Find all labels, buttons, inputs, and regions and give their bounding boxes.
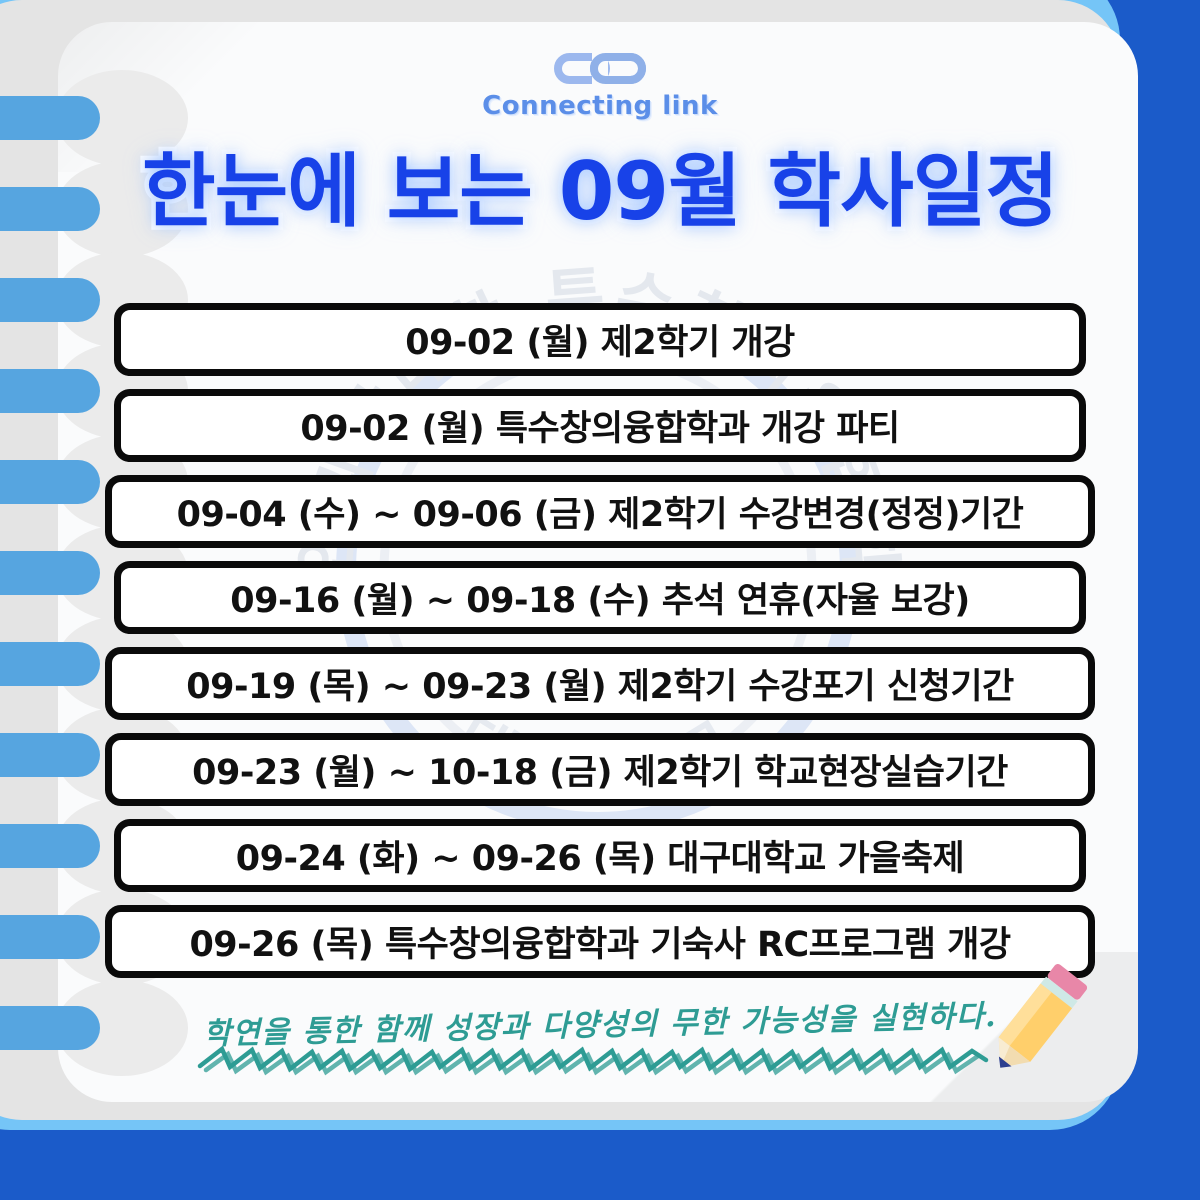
brand-logo: Connecting link: [0, 48, 1200, 121]
schedule-item-label: 09-04 (수) ~ 09-06 (금) 제2학기 수강변경(정정)기간: [177, 486, 1024, 537]
scribble-underline-icon: [196, 1040, 996, 1078]
page-title: 한눈에 보는 09월 학사일정: [142, 150, 1058, 234]
schedule-list: 09-02 (월) 제2학기 개강09-02 (월) 특수창의융합학과 개강 파…: [0, 303, 1200, 991]
schedule-item: 09-26 (목) 특수창의융합학과 기숙사 RC프로그램 개강: [105, 905, 1095, 978]
poster-canvas: 자연과학대학 특수창의융합학과 대구대학교 Connecting link 한눈…: [0, 0, 1200, 1200]
schedule-item: 09-04 (수) ~ 09-06 (금) 제2학기 수강변경(정정)기간: [105, 475, 1095, 548]
schedule-item: 09-02 (월) 특수창의융합학과 개강 파티: [114, 389, 1086, 462]
schedule-item: 09-02 (월) 제2학기 개강: [114, 303, 1086, 376]
pencil-icon: [978, 958, 1094, 1086]
schedule-item-label: 09-19 (목) ~ 09-23 (월) 제2학기 수강포기 신청기간: [186, 658, 1013, 709]
schedule-item-label: 09-23 (월) ~ 10-18 (금) 제2학기 학교현장실습기간: [192, 744, 1008, 795]
brand-name: Connecting link: [0, 91, 1200, 121]
schedule-item: 09-16 (월) ~ 09-18 (수) 추석 연휴(자율 보강): [114, 561, 1086, 634]
schedule-item-label: 09-16 (월) ~ 09-18 (수) 추석 연휴(자율 보강): [230, 572, 969, 623]
schedule-item: 09-23 (월) ~ 10-18 (금) 제2학기 학교현장실습기간: [105, 733, 1095, 806]
chain-link-icon: [554, 48, 646, 88]
schedule-item-label: 09-26 (목) 특수창의융합학과 기숙사 RC프로그램 개강: [189, 916, 1010, 967]
schedule-item-label: 09-24 (화) ~ 09-26 (목) 대구대학교 가을축제: [236, 830, 965, 881]
schedule-item-label: 09-02 (월) 특수창의융합학과 개강 파티: [300, 400, 899, 451]
schedule-item-label: 09-02 (월) 제2학기 개강: [405, 314, 795, 365]
page-title-wrap: 한눈에 보는 09월 학사일정: [0, 150, 1200, 234]
schedule-item: 09-19 (목) ~ 09-23 (월) 제2학기 수강포기 신청기간: [105, 647, 1095, 720]
schedule-item: 09-24 (화) ~ 09-26 (목) 대구대학교 가을축제: [114, 819, 1086, 892]
